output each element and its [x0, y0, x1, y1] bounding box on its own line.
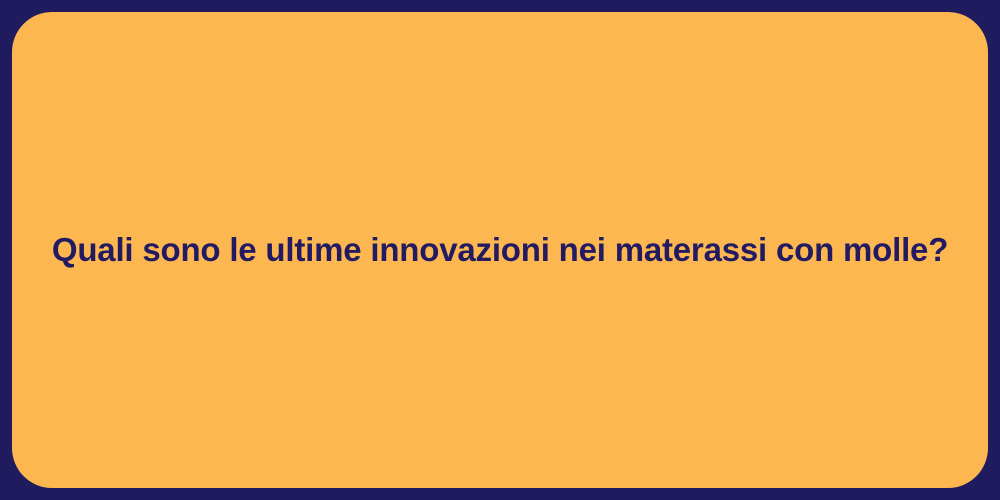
page-title: Quali sono le ultime innovazioni nei mat… [12, 229, 988, 270]
banner-panel: Quali sono le ultime innovazioni nei mat… [12, 12, 988, 488]
banner-frame: Quali sono le ultime innovazioni nei mat… [0, 0, 1000, 500]
